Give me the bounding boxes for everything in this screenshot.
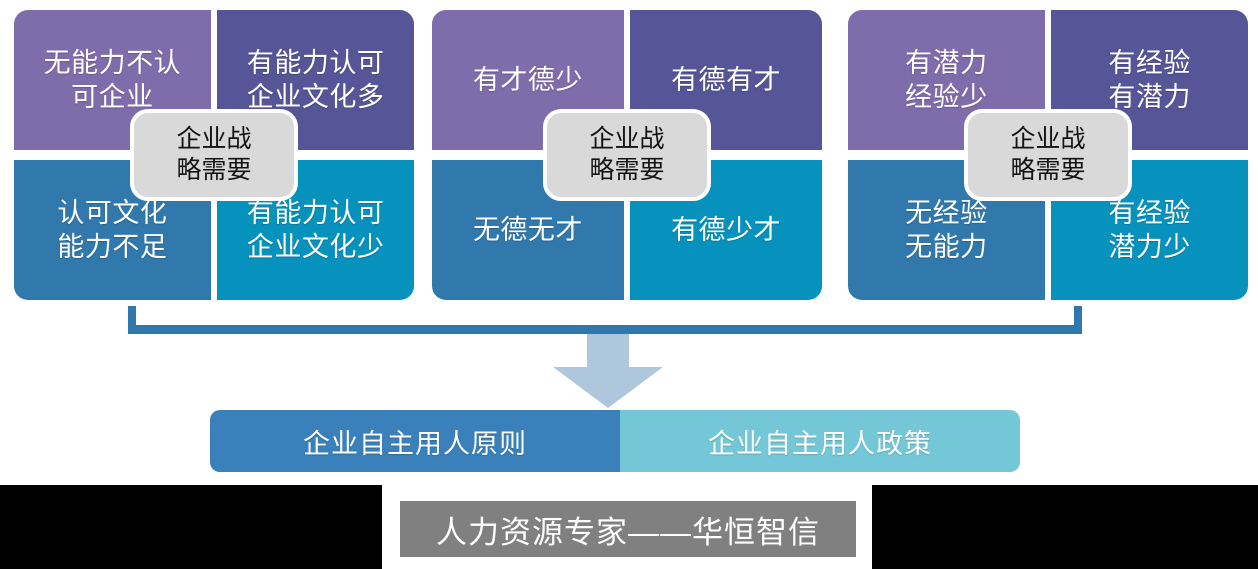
footer-rule-top [738, 496, 868, 498]
bracket-crossbar [128, 325, 1082, 334]
quadrant-group-talent-virtue: 有才德少 有德有才 无德无才 有德少才 企业战 略需要 [432, 10, 822, 300]
center-callout[interactable]: 企业战 略需要 [543, 109, 711, 201]
down-arrow-icon [553, 334, 663, 408]
center-callout[interactable]: 企业战 略需要 [964, 109, 1132, 201]
footer-band: 人力资源专家——华恒智信 [0, 485, 1258, 569]
footer-rule-bottom [394, 563, 528, 565]
footer-rule-right [866, 496, 868, 554]
quadrant-group-ability-culture: 无能力不认 可企业 有能力认可 企业文化多 认可文化 能力不足 有能力认可 企业… [14, 10, 414, 300]
footer-rule-left [394, 515, 396, 565]
outcome-bar-policy[interactable]: 企业自主用人政策 [620, 410, 1020, 472]
outcome-bar-principle[interactable]: 企业自主用人原则 [210, 410, 620, 472]
center-callout[interactable]: 企业战 略需要 [130, 109, 298, 201]
bracket-connector [128, 306, 1082, 334]
brand-label: 人力资源专家——华恒智信 [400, 501, 856, 557]
quadrant-group-potential-experience: 有潜力 经验少 有经验 有潜力 无经验 无能力 有经验 潜力少 企业战 略需要 [848, 10, 1248, 300]
